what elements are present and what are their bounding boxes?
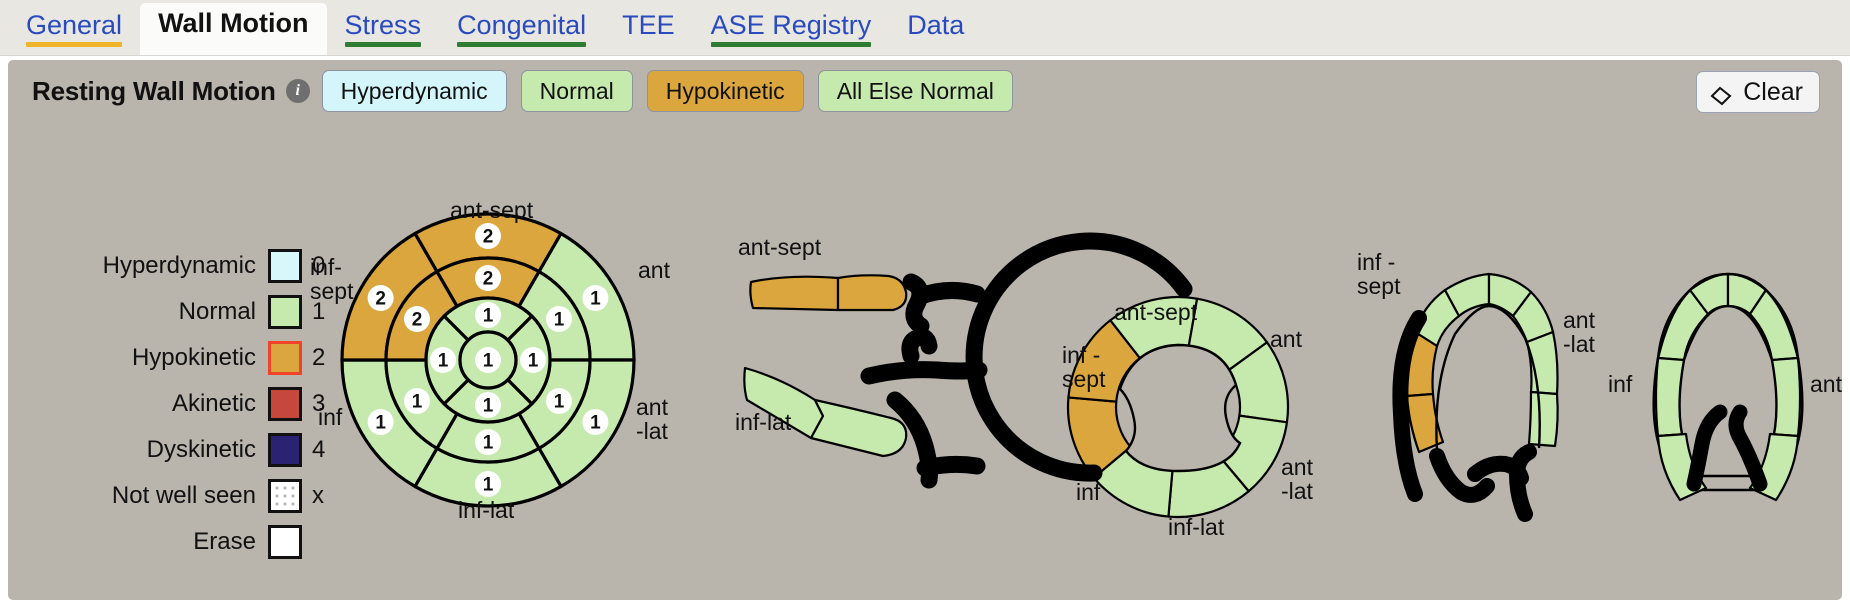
mode-button-all-else-normal[interactable]: All Else Normal xyxy=(818,70,1013,112)
tab-wall-motion[interactable]: Wall Motion xyxy=(140,3,326,55)
svg-text:2: 2 xyxy=(483,269,494,290)
tab-ase-registry-underline xyxy=(711,42,872,47)
tab-stress-underline xyxy=(345,42,422,47)
psax-cavity xyxy=(1120,345,1240,471)
view-parasternal-short-axis: ant-sept ant ant -lat inf-lat inf inf - … xyxy=(1038,265,1328,525)
mode-button-all-else-normal-label: All Else Normal xyxy=(837,78,994,105)
legend-item-not-well-seen[interactable]: Not well seen x xyxy=(28,476,328,516)
tab-general-label: General xyxy=(26,11,122,41)
legend-swatch-erase[interactable] xyxy=(268,525,302,559)
a4c-segment-7[interactable] xyxy=(1529,392,1558,446)
svg-text:1: 1 xyxy=(483,351,494,372)
bullseye-label-inf-lat: inf-lat xyxy=(458,498,514,522)
psax-label-ant-lat: ant -lat xyxy=(1281,455,1313,503)
legend-swatch-akinetic[interactable] xyxy=(268,387,302,421)
tab-data-label: Data xyxy=(907,11,964,41)
plax-label-ant-sept: ant-sept xyxy=(738,235,821,259)
svg-text:2: 2 xyxy=(412,310,423,331)
tab-congenital-label: Congenital xyxy=(457,11,586,41)
legend-item-not-well-seen-label: Not well seen xyxy=(112,482,268,510)
legend-swatch-hypokinetic[interactable] xyxy=(268,341,302,375)
legend-item-akinetic[interactable]: Akinetic 3 xyxy=(28,384,328,424)
a4c-label-inf-sept: inf - sept xyxy=(1357,250,1400,298)
bullseye-svg[interactable]: 21111221111211111 xyxy=(338,210,638,510)
plax-vessel-2 xyxy=(910,337,929,356)
bullseye-diagram: ant-sept ant ant -lat inf-lat inf inf- s… xyxy=(338,210,668,560)
legend-item-hyperdynamic-label: Hyperdynamic xyxy=(103,252,268,280)
info-icon[interactable]: i xyxy=(286,79,310,103)
psax-label-inf: inf xyxy=(1076,480,1100,504)
clear-button-label: Clear xyxy=(1743,78,1803,107)
legend-value-dyskinetic: 4 xyxy=(302,436,328,464)
tab-data[interactable]: Data xyxy=(889,5,982,55)
tab-congenital[interactable]: Congenital xyxy=(439,5,604,55)
svg-text:2: 2 xyxy=(483,227,494,248)
legend-swatch-normal[interactable] xyxy=(268,295,302,329)
svg-text:1: 1 xyxy=(590,413,601,434)
mode-button-normal[interactable]: Normal xyxy=(521,70,633,112)
tab-ase-registry[interactable]: ASE Registry xyxy=(693,5,890,55)
svg-text:1: 1 xyxy=(438,351,449,372)
legend-item-normal[interactable]: Normal 1 xyxy=(28,292,328,332)
svg-text:2: 2 xyxy=(375,289,386,310)
mode-button-hypokinetic[interactable]: Hypokinetic xyxy=(647,70,804,112)
plax-segment-0[interactable] xyxy=(750,277,838,310)
svg-text:1: 1 xyxy=(554,310,565,331)
view-apical-four-chamber: inf - sept ant -lat xyxy=(1363,260,1613,530)
bullseye-label-ant-sept: ant-sept xyxy=(450,198,533,222)
tab-wall-motion-label: Wall Motion xyxy=(158,9,308,39)
legend-swatch-not-well-seen[interactable] xyxy=(268,479,302,513)
legend-item-dyskinetic-label: Dyskinetic xyxy=(147,436,268,464)
a4c-segment-6[interactable] xyxy=(1527,332,1558,394)
wall-motion-panel: Resting Wall Motion i Hyperdynamic Norma… xyxy=(8,60,1842,600)
tab-general-underline xyxy=(26,42,122,47)
psax-label-ant-sept: ant-sept xyxy=(1114,300,1197,324)
svg-text:1: 1 xyxy=(554,392,565,413)
plax-vessel-1 xyxy=(921,290,977,296)
plax-label-inf-lat: inf-lat xyxy=(735,410,791,434)
a2c-label-inf: inf xyxy=(1608,372,1632,396)
svg-text:1: 1 xyxy=(375,413,386,434)
a4c-svg[interactable] xyxy=(1363,260,1593,520)
legend-item-akinetic-label: Akinetic xyxy=(172,390,268,418)
psax-label-inf-sept: inf - sept xyxy=(1062,343,1105,391)
svg-text:1: 1 xyxy=(483,475,494,496)
tab-tee[interactable]: TEE xyxy=(604,5,693,55)
bullseye-label-ant: ant xyxy=(638,258,670,282)
svg-text:1: 1 xyxy=(483,396,494,417)
psax-label-inf-lat: inf-lat xyxy=(1168,515,1224,539)
mode-button-hyperdynamic[interactable]: Hyperdynamic xyxy=(322,70,507,112)
tab-congenital-underline xyxy=(457,42,586,47)
tab-stress-label: Stress xyxy=(345,11,422,41)
mode-button-hyperdynamic-label: Hyperdynamic xyxy=(341,78,488,105)
bullseye-label-inf: inf xyxy=(318,405,342,429)
wall-motion-legend: Hyperdynamic 0 Normal 1 Hypokinetic 2 Ak… xyxy=(28,246,328,568)
legend-item-hypokinetic[interactable]: Hypokinetic 2 xyxy=(28,338,328,378)
plax-vessel-5 xyxy=(925,464,977,468)
tab-bar: General Wall Motion Stress Congenital TE… xyxy=(0,0,1850,56)
page-title: Resting Wall Motion xyxy=(32,76,276,107)
mode-button-hypokinetic-label: Hypokinetic xyxy=(666,78,785,105)
mode-button-normal-label: Normal xyxy=(540,78,614,105)
svg-text:1: 1 xyxy=(483,306,494,327)
tab-stress[interactable]: Stress xyxy=(327,5,440,55)
bullseye-label-inf-sept: inf- sept xyxy=(310,255,353,303)
bullseye-label-ant-lat: ant -lat xyxy=(636,395,668,443)
svg-text:1: 1 xyxy=(528,351,539,372)
plax-svg[interactable] xyxy=(743,260,1003,480)
svg-text:1: 1 xyxy=(412,392,423,413)
legend-item-erase-label: Erase xyxy=(193,528,268,556)
legend-value-not-well-seen: x xyxy=(302,482,328,510)
view-apical-two-chamber: inf ant xyxy=(1628,260,1850,530)
svg-text:1: 1 xyxy=(590,289,601,310)
legend-item-hyperdynamic[interactable]: Hyperdynamic 0 xyxy=(28,246,328,286)
wall-motion-toolbar: Resting Wall Motion i Hyperdynamic Norma… xyxy=(8,60,1842,122)
svg-text:1: 1 xyxy=(483,433,494,454)
eraser-icon xyxy=(1709,80,1735,104)
tab-ase-registry-label: ASE Registry xyxy=(711,11,872,41)
a2c-label-ant: ant xyxy=(1810,372,1842,396)
legend-swatch-dyskinetic[interactable] xyxy=(268,433,302,467)
legend-item-dyskinetic[interactable]: Dyskinetic 4 xyxy=(28,430,328,470)
legend-swatch-hyperdynamic[interactable] xyxy=(268,249,302,283)
a2c-svg[interactable] xyxy=(1628,260,1828,520)
tab-general[interactable]: General xyxy=(8,5,140,55)
plax-vessel-3 xyxy=(869,370,979,376)
tab-tee-label: TEE xyxy=(622,11,675,41)
legend-item-hypokinetic-label: Hypokinetic xyxy=(132,344,268,372)
psax-label-ant: ant xyxy=(1270,327,1302,351)
a4c-label-ant-lat: ant -lat xyxy=(1563,308,1595,356)
legend-value-hypokinetic: 2 xyxy=(302,344,328,372)
clear-button[interactable]: Clear xyxy=(1696,71,1820,113)
plax-segment-1[interactable] xyxy=(838,275,906,310)
legend-item-erase[interactable]: Erase xyxy=(28,522,328,562)
legend-item-normal-label: Normal xyxy=(179,298,268,326)
